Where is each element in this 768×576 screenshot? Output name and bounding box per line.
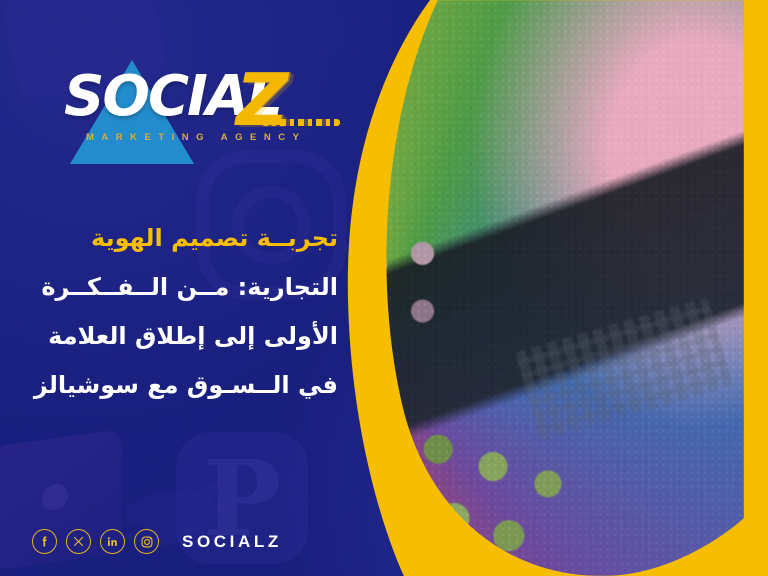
- headline-line-2: التجارية: مــن الــفــكــرة: [18, 263, 338, 312]
- facebook-icon[interactable]: [32, 529, 57, 554]
- marketing-banner: P SOCIAL Z MARKETING AGENCY تجربــة تصمي…: [0, 0, 768, 576]
- headline-line-1: تجربــة تصميم الهوية: [18, 214, 338, 263]
- photo-panel: [338, 0, 768, 576]
- footer-brand-name: SOCIALZ: [182, 532, 282, 552]
- socialz-logo: SOCIAL Z MARKETING AGENCY: [64, 58, 314, 150]
- x-icon[interactable]: [66, 529, 91, 554]
- footer-social-bar: SOCIALZ: [32, 529, 282, 554]
- headline-block: تجربــة تصميم الهوية التجارية: مــن الــ…: [18, 214, 338, 410]
- logo-z-brushstroke: Z: [236, 58, 288, 142]
- logo-tagline: MARKETING AGENCY: [86, 132, 306, 143]
- headline-line-3: الأولى إلى إطلاق العلامة: [18, 312, 338, 361]
- instagram-icon[interactable]: [134, 529, 159, 554]
- headline-line-4: في الــسـوق مع سوشيالز: [18, 361, 338, 410]
- linkedin-icon[interactable]: [100, 529, 125, 554]
